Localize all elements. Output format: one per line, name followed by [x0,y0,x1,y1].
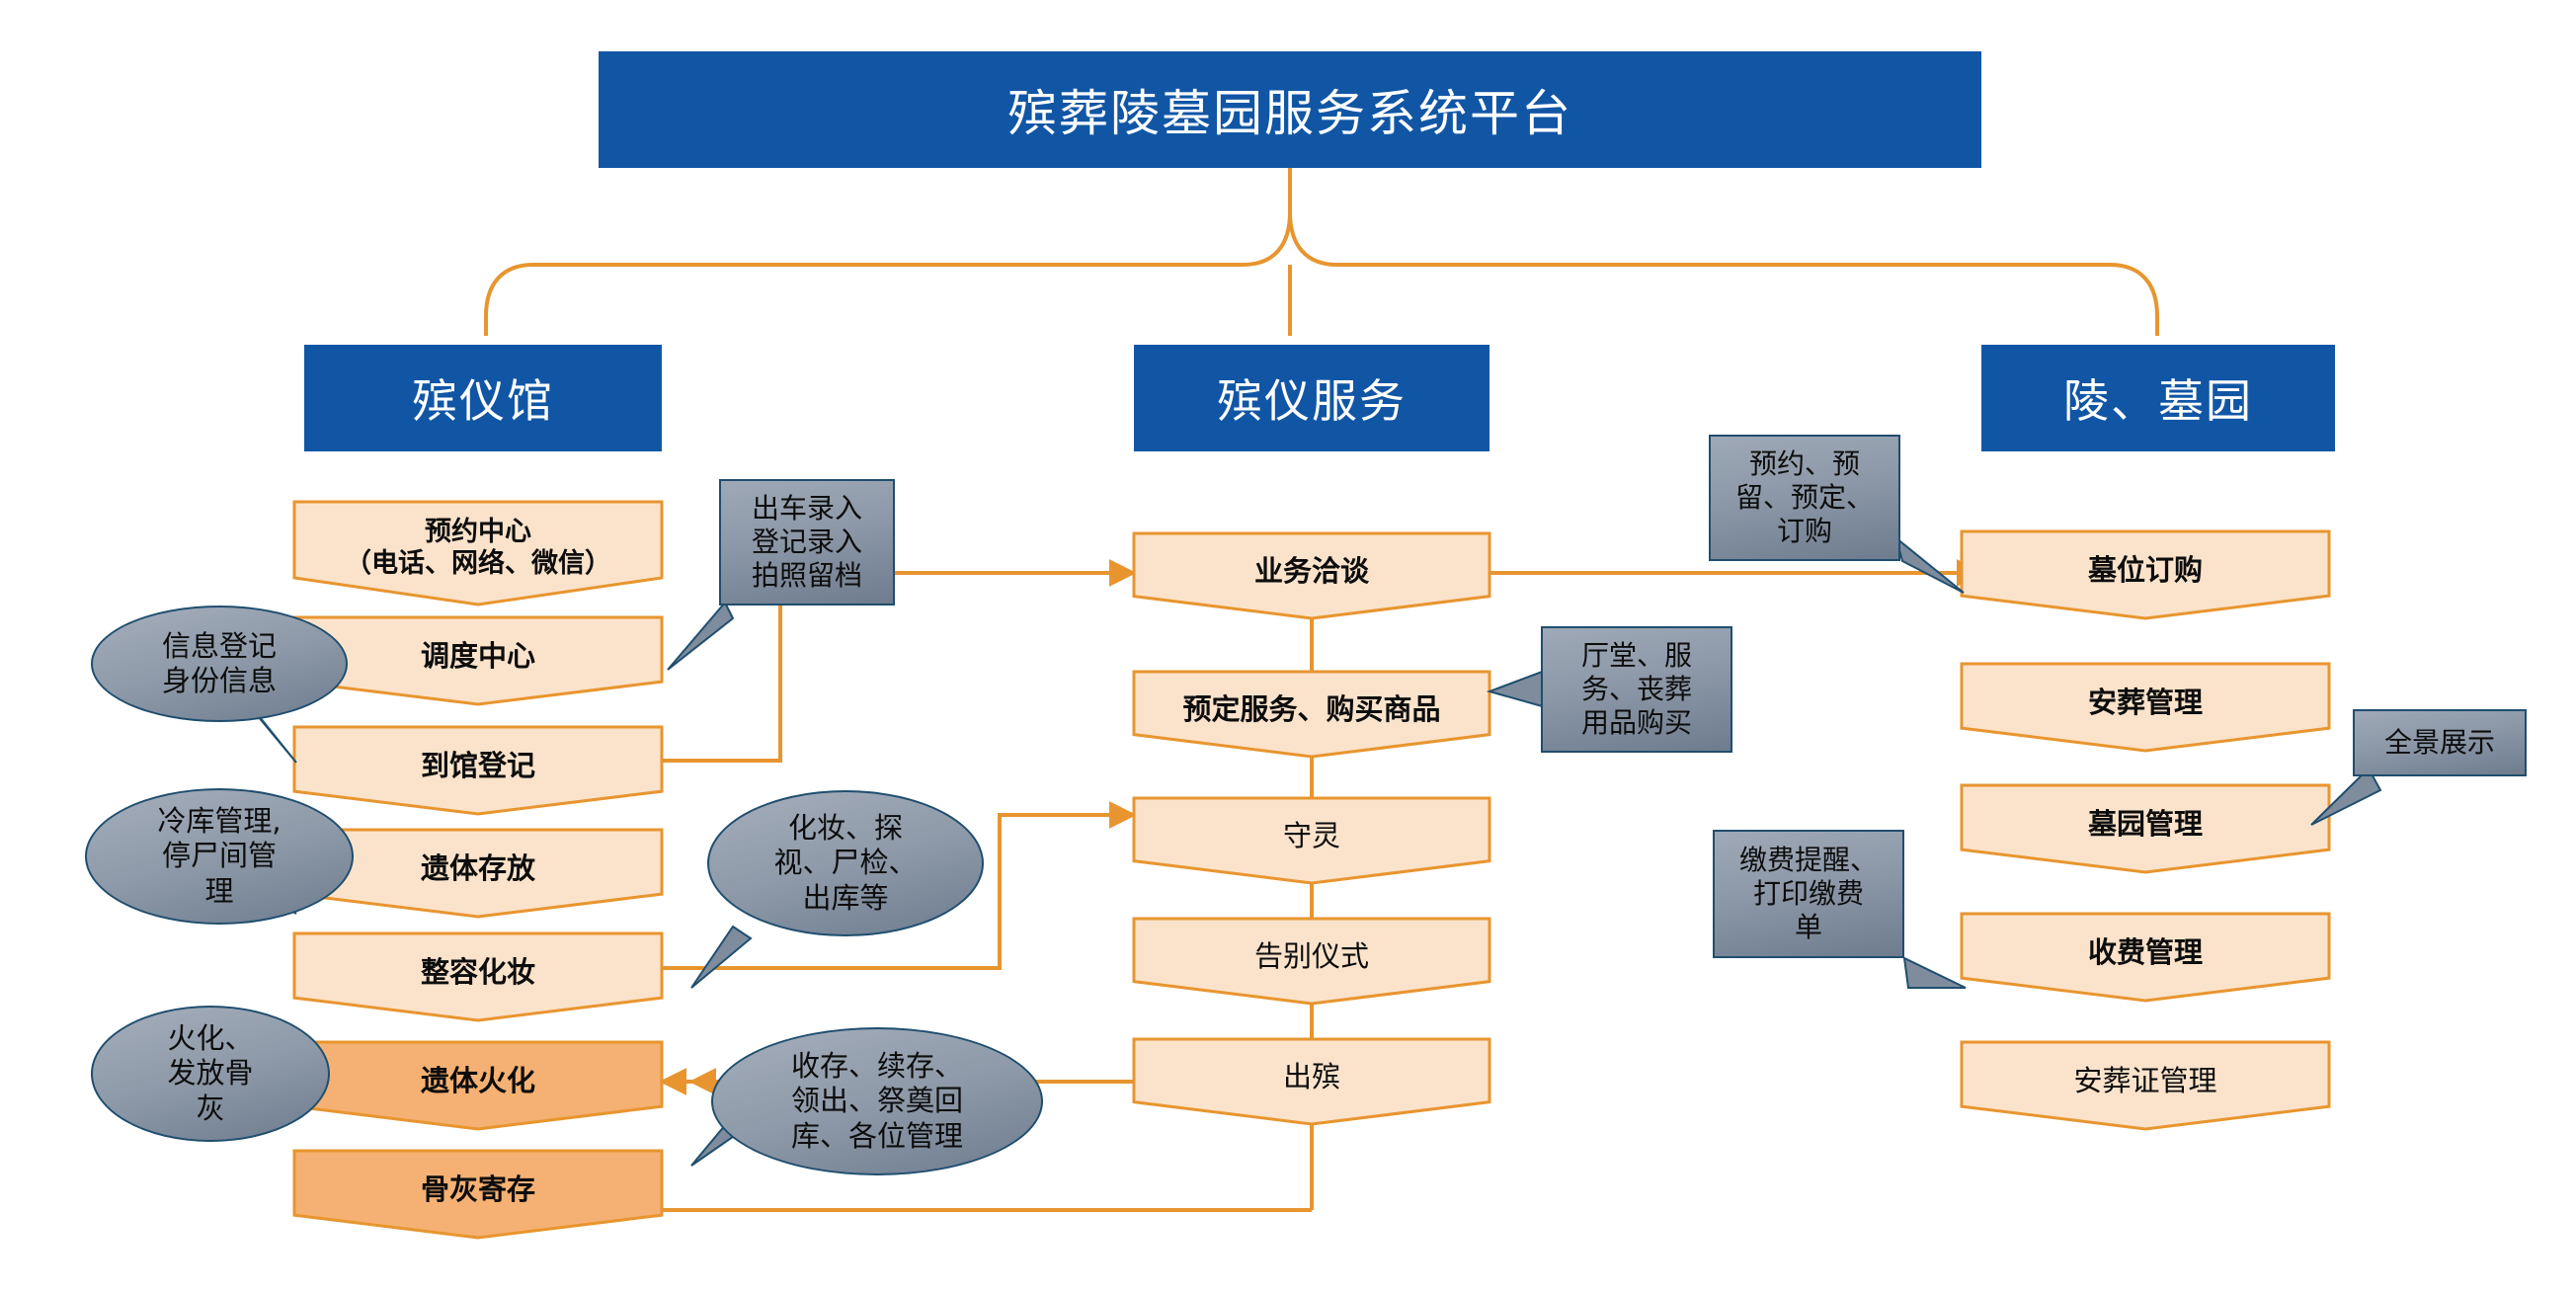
callout-panorama-note: 全景展示 [2353,709,2527,776]
callout-hall-note: 厅堂、服 务、丧葬 用品购买 [1541,626,1732,753]
callout-text: 化妆、探 视、尸检、 出库等 [773,811,917,916]
callout-text: 预约、预 留、预定、 订购 [1735,447,1874,548]
diagram-canvas: 殡葬陵墓园服务系统平台 殡仪馆 殡仪服务 陵、墓园 预约中心 （电话、网络、微信… [0,0,2576,1294]
callout-storage-note: 冷库管理, 停尸间管 理 [85,788,354,925]
callout-text: 厅堂、服 务、丧葬 用品购买 [1581,639,1692,740]
callout-payment-note: 缴费提醒、 打印缴费 单 [1713,830,1904,958]
callout-booking-note: 预约、预 留、预定、 订购 [1709,435,1900,561]
callout-registration-note: 信息登记 身份信息 [91,606,348,722]
callout-text: 信息登记 身份信息 [162,629,277,699]
callout-text: 全景展示 [2384,726,2495,760]
callout-makeup-note: 化妆、探 视、尸检、 出库等 [707,790,984,936]
callout-cremation-note: 火化、 发放骨 灰 [91,1006,330,1142]
callout-text: 缴费提醒、 打印缴费 单 [1739,844,1878,944]
callout-ash-note: 收存、续存、 领出、祭奠回 库、各位管理 [711,1027,1043,1175]
callout-dispatch-note: 出车录入 登记录入 拍照留档 [719,479,895,606]
callout-text: 出车录入 登记录入 拍照留档 [752,492,862,593]
callout-text: 火化、 发放骨 灰 [167,1021,253,1126]
callout-text: 收存、续存、 领出、祭奠回 库、各位管理 [791,1049,963,1154]
callout-tail-layer [0,0,2576,1294]
callout-text: 冷库管理, 停尸间管 理 [157,804,281,909]
